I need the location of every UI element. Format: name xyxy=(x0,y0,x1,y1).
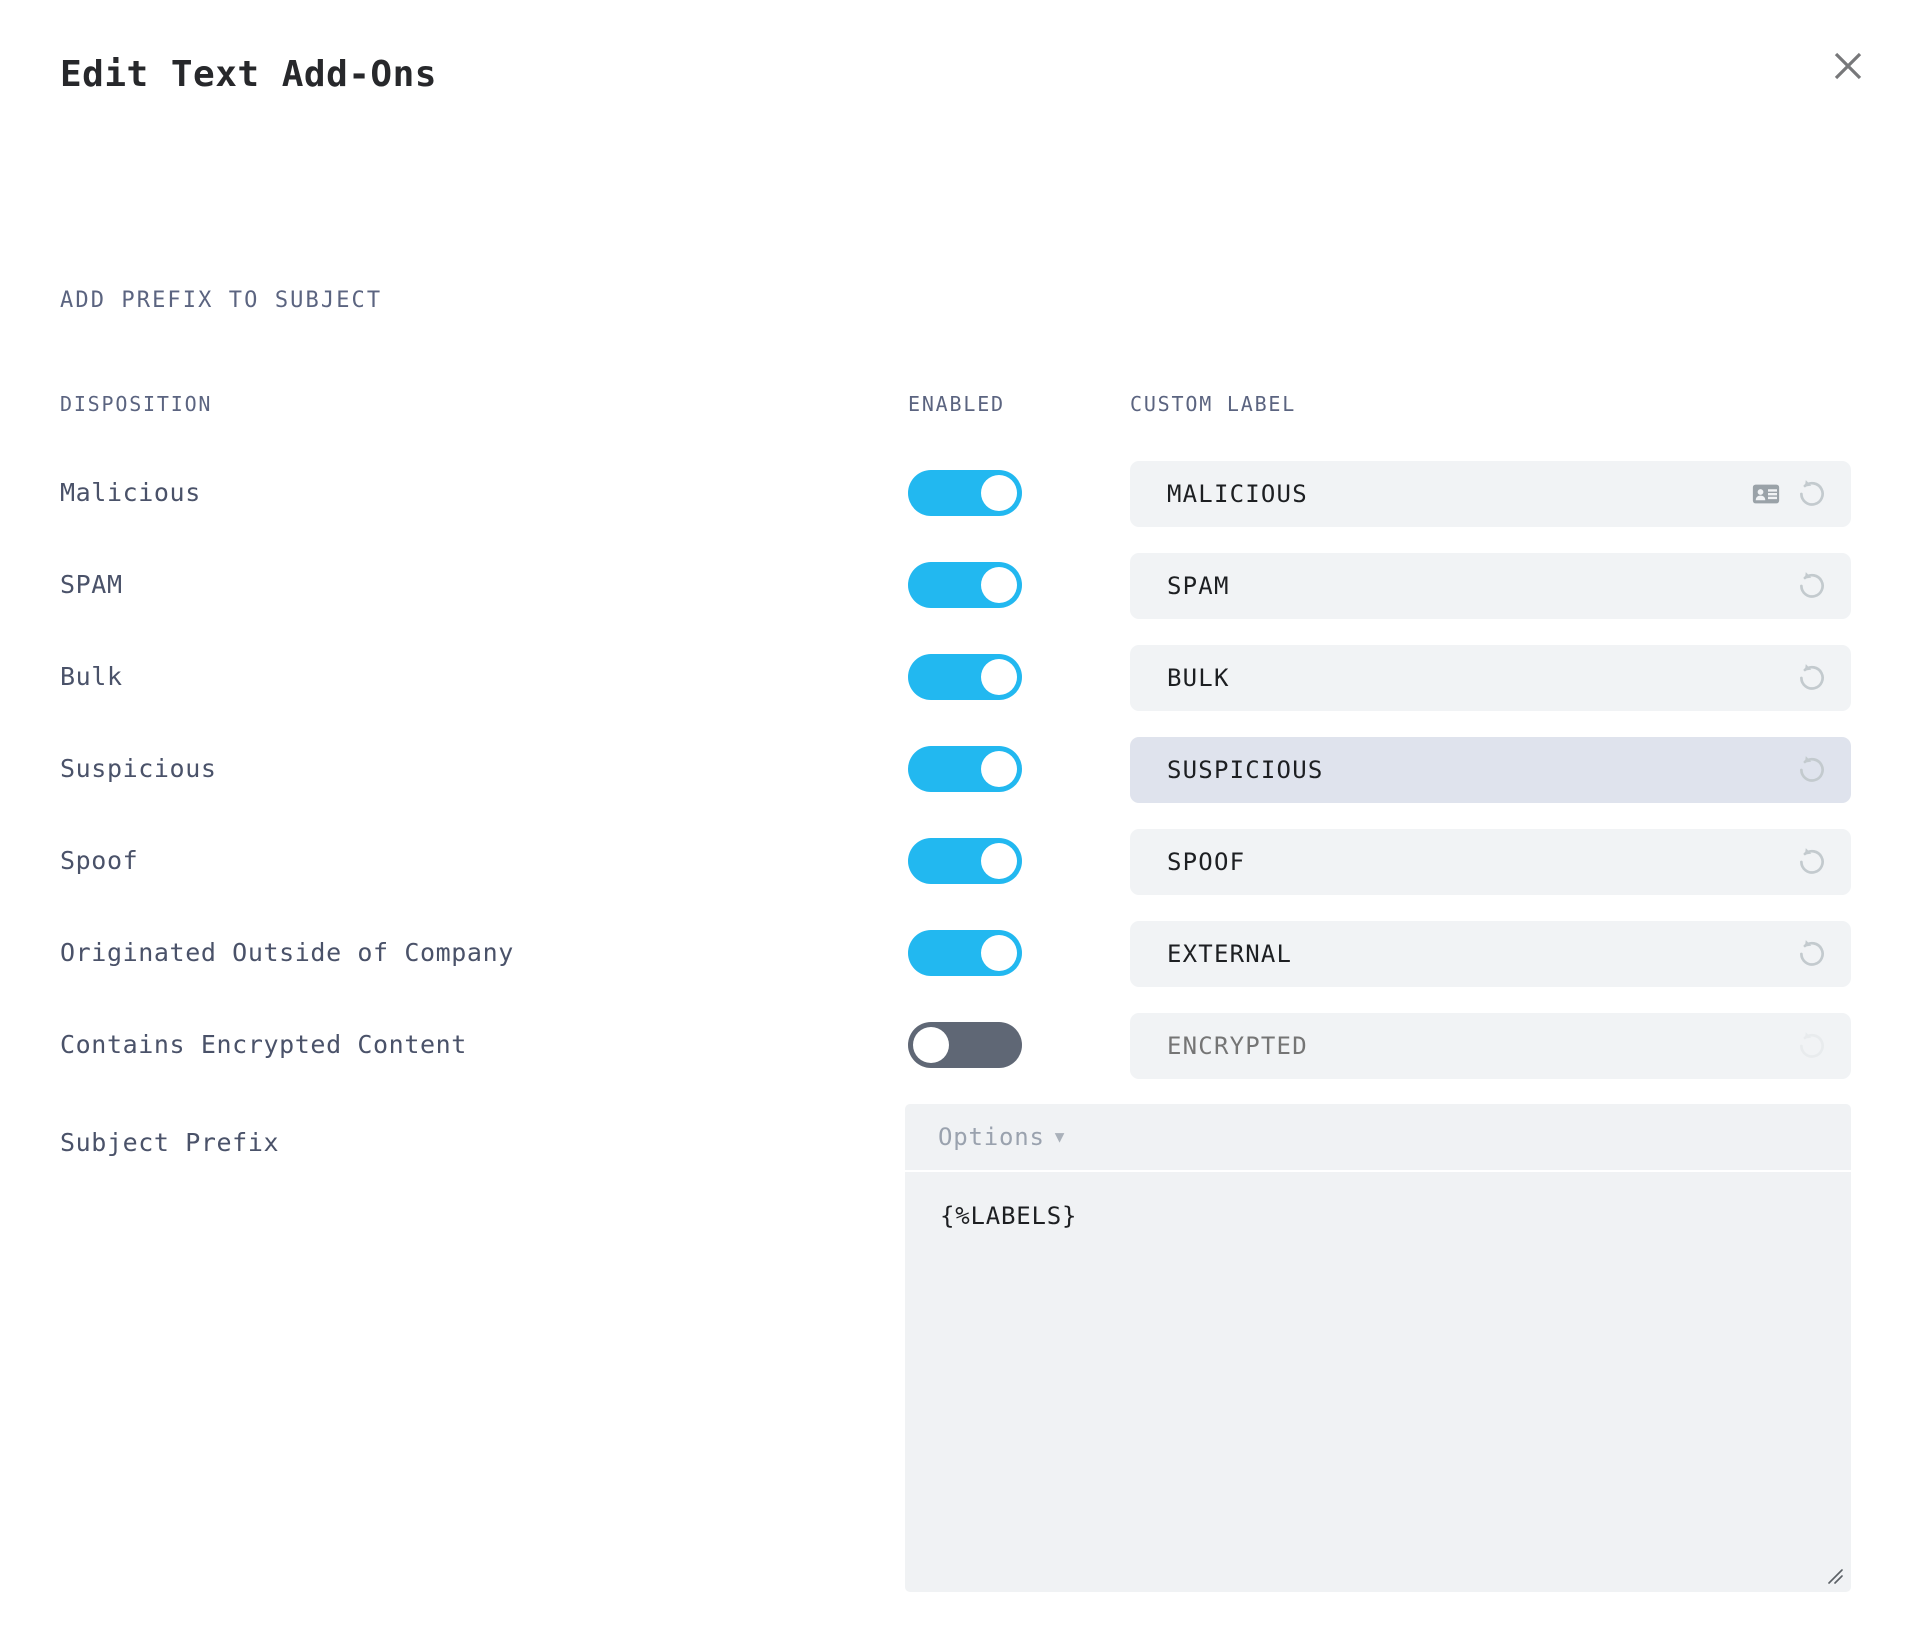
toggle-knob xyxy=(981,843,1017,879)
table-row: Contains Encrypted Content xyxy=(0,1000,1908,1092)
resize-grip-icon[interactable] xyxy=(1821,1562,1843,1584)
toggle-knob xyxy=(981,567,1017,603)
contact-card-icon[interactable] xyxy=(1751,479,1781,509)
enabled-toggle[interactable] xyxy=(908,746,1022,792)
toggle-knob xyxy=(981,475,1017,511)
subject-prefix-label: Subject Prefix xyxy=(60,1128,279,1157)
toggle-knob xyxy=(981,935,1017,971)
enabled-toggle[interactable] xyxy=(908,838,1022,884)
close-icon xyxy=(1831,49,1865,83)
options-dropdown-label: Options xyxy=(938,1123,1045,1151)
enabled-toggle[interactable] xyxy=(908,470,1022,516)
toggle-knob xyxy=(981,751,1017,787)
custom-label-input[interactable] xyxy=(1167,848,1767,876)
field-icon-group xyxy=(1795,661,1829,695)
section-heading: ADD PREFIX TO SUBJECT xyxy=(60,288,382,313)
field-icon-group xyxy=(1795,937,1829,971)
reset-icon[interactable] xyxy=(1795,845,1829,879)
column-header-enabled: ENABLED xyxy=(908,392,1005,416)
custom-label-field[interactable] xyxy=(1130,1013,1851,1079)
reset-icon[interactable] xyxy=(1795,753,1829,787)
reset-icon[interactable] xyxy=(1795,477,1829,511)
reset-icon xyxy=(1795,1029,1829,1063)
custom-label-field[interactable] xyxy=(1130,645,1851,711)
table-row: SPAM xyxy=(0,540,1908,632)
custom-label-field[interactable] xyxy=(1130,829,1851,895)
field-icon-group xyxy=(1751,477,1829,511)
custom-label-input[interactable] xyxy=(1167,940,1767,968)
disposition-label: Spoof xyxy=(60,846,138,875)
subject-prefix-textarea[interactable] xyxy=(938,1200,1802,1544)
custom-label-input[interactable] xyxy=(1167,1032,1767,1060)
toggle-knob xyxy=(981,659,1017,695)
reset-icon[interactable] xyxy=(1795,937,1829,971)
table-row: Malicious xyxy=(0,448,1908,540)
toggle-knob xyxy=(913,1027,949,1063)
table-row: Spoof xyxy=(0,816,1908,908)
field-icon-group xyxy=(1795,569,1829,603)
enabled-toggle[interactable] xyxy=(908,930,1022,976)
reset-icon[interactable] xyxy=(1795,661,1829,695)
page-title: Edit Text Add-Ons xyxy=(60,54,437,95)
disposition-label: Bulk xyxy=(60,662,123,691)
chevron-down-icon: ▼ xyxy=(1055,1129,1065,1145)
table-column-headers: DISPOSITION ENABLED CUSTOM LABEL xyxy=(0,392,1908,422)
disposition-label: Suspicious xyxy=(60,754,217,783)
custom-label-input[interactable] xyxy=(1167,664,1767,692)
custom-label-field[interactable] xyxy=(1130,737,1851,803)
custom-label-input[interactable] xyxy=(1167,572,1767,600)
disposition-label: Contains Encrypted Content xyxy=(60,1030,467,1059)
disposition-label: SPAM xyxy=(60,570,123,599)
disposition-label: Originated Outside of Company xyxy=(60,938,514,967)
close-button[interactable] xyxy=(1818,36,1878,96)
field-icon-group xyxy=(1795,753,1829,787)
table-row: Suspicious xyxy=(0,724,1908,816)
enabled-toggle[interactable] xyxy=(908,654,1022,700)
field-icon-group xyxy=(1795,1029,1829,1063)
field-icon-group xyxy=(1795,845,1829,879)
custom-label-input[interactable] xyxy=(1167,756,1767,784)
editor-body xyxy=(905,1172,1851,1592)
enabled-toggle[interactable] xyxy=(908,1022,1022,1068)
reset-icon[interactable] xyxy=(1795,569,1829,603)
subject-prefix-editor: Options ▼ xyxy=(905,1104,1851,1592)
column-header-custom-label: CUSTOM LABEL xyxy=(1130,392,1296,416)
custom-label-field[interactable] xyxy=(1130,461,1851,527)
custom-label-input[interactable] xyxy=(1167,480,1767,508)
modal-header: Edit Text Add-Ons xyxy=(0,0,1908,150)
column-header-disposition: DISPOSITION xyxy=(60,392,212,416)
custom-label-field[interactable] xyxy=(1130,553,1851,619)
custom-label-field[interactable] xyxy=(1130,921,1851,987)
table-row: Originated Outside of Company xyxy=(0,908,1908,1000)
editor-toolbar: Options ▼ xyxy=(905,1104,1851,1170)
table-row: Bulk xyxy=(0,632,1908,724)
enabled-toggle[interactable] xyxy=(908,562,1022,608)
disposition-label: Malicious xyxy=(60,478,201,507)
options-dropdown-button[interactable]: Options ▼ xyxy=(938,1123,1065,1151)
